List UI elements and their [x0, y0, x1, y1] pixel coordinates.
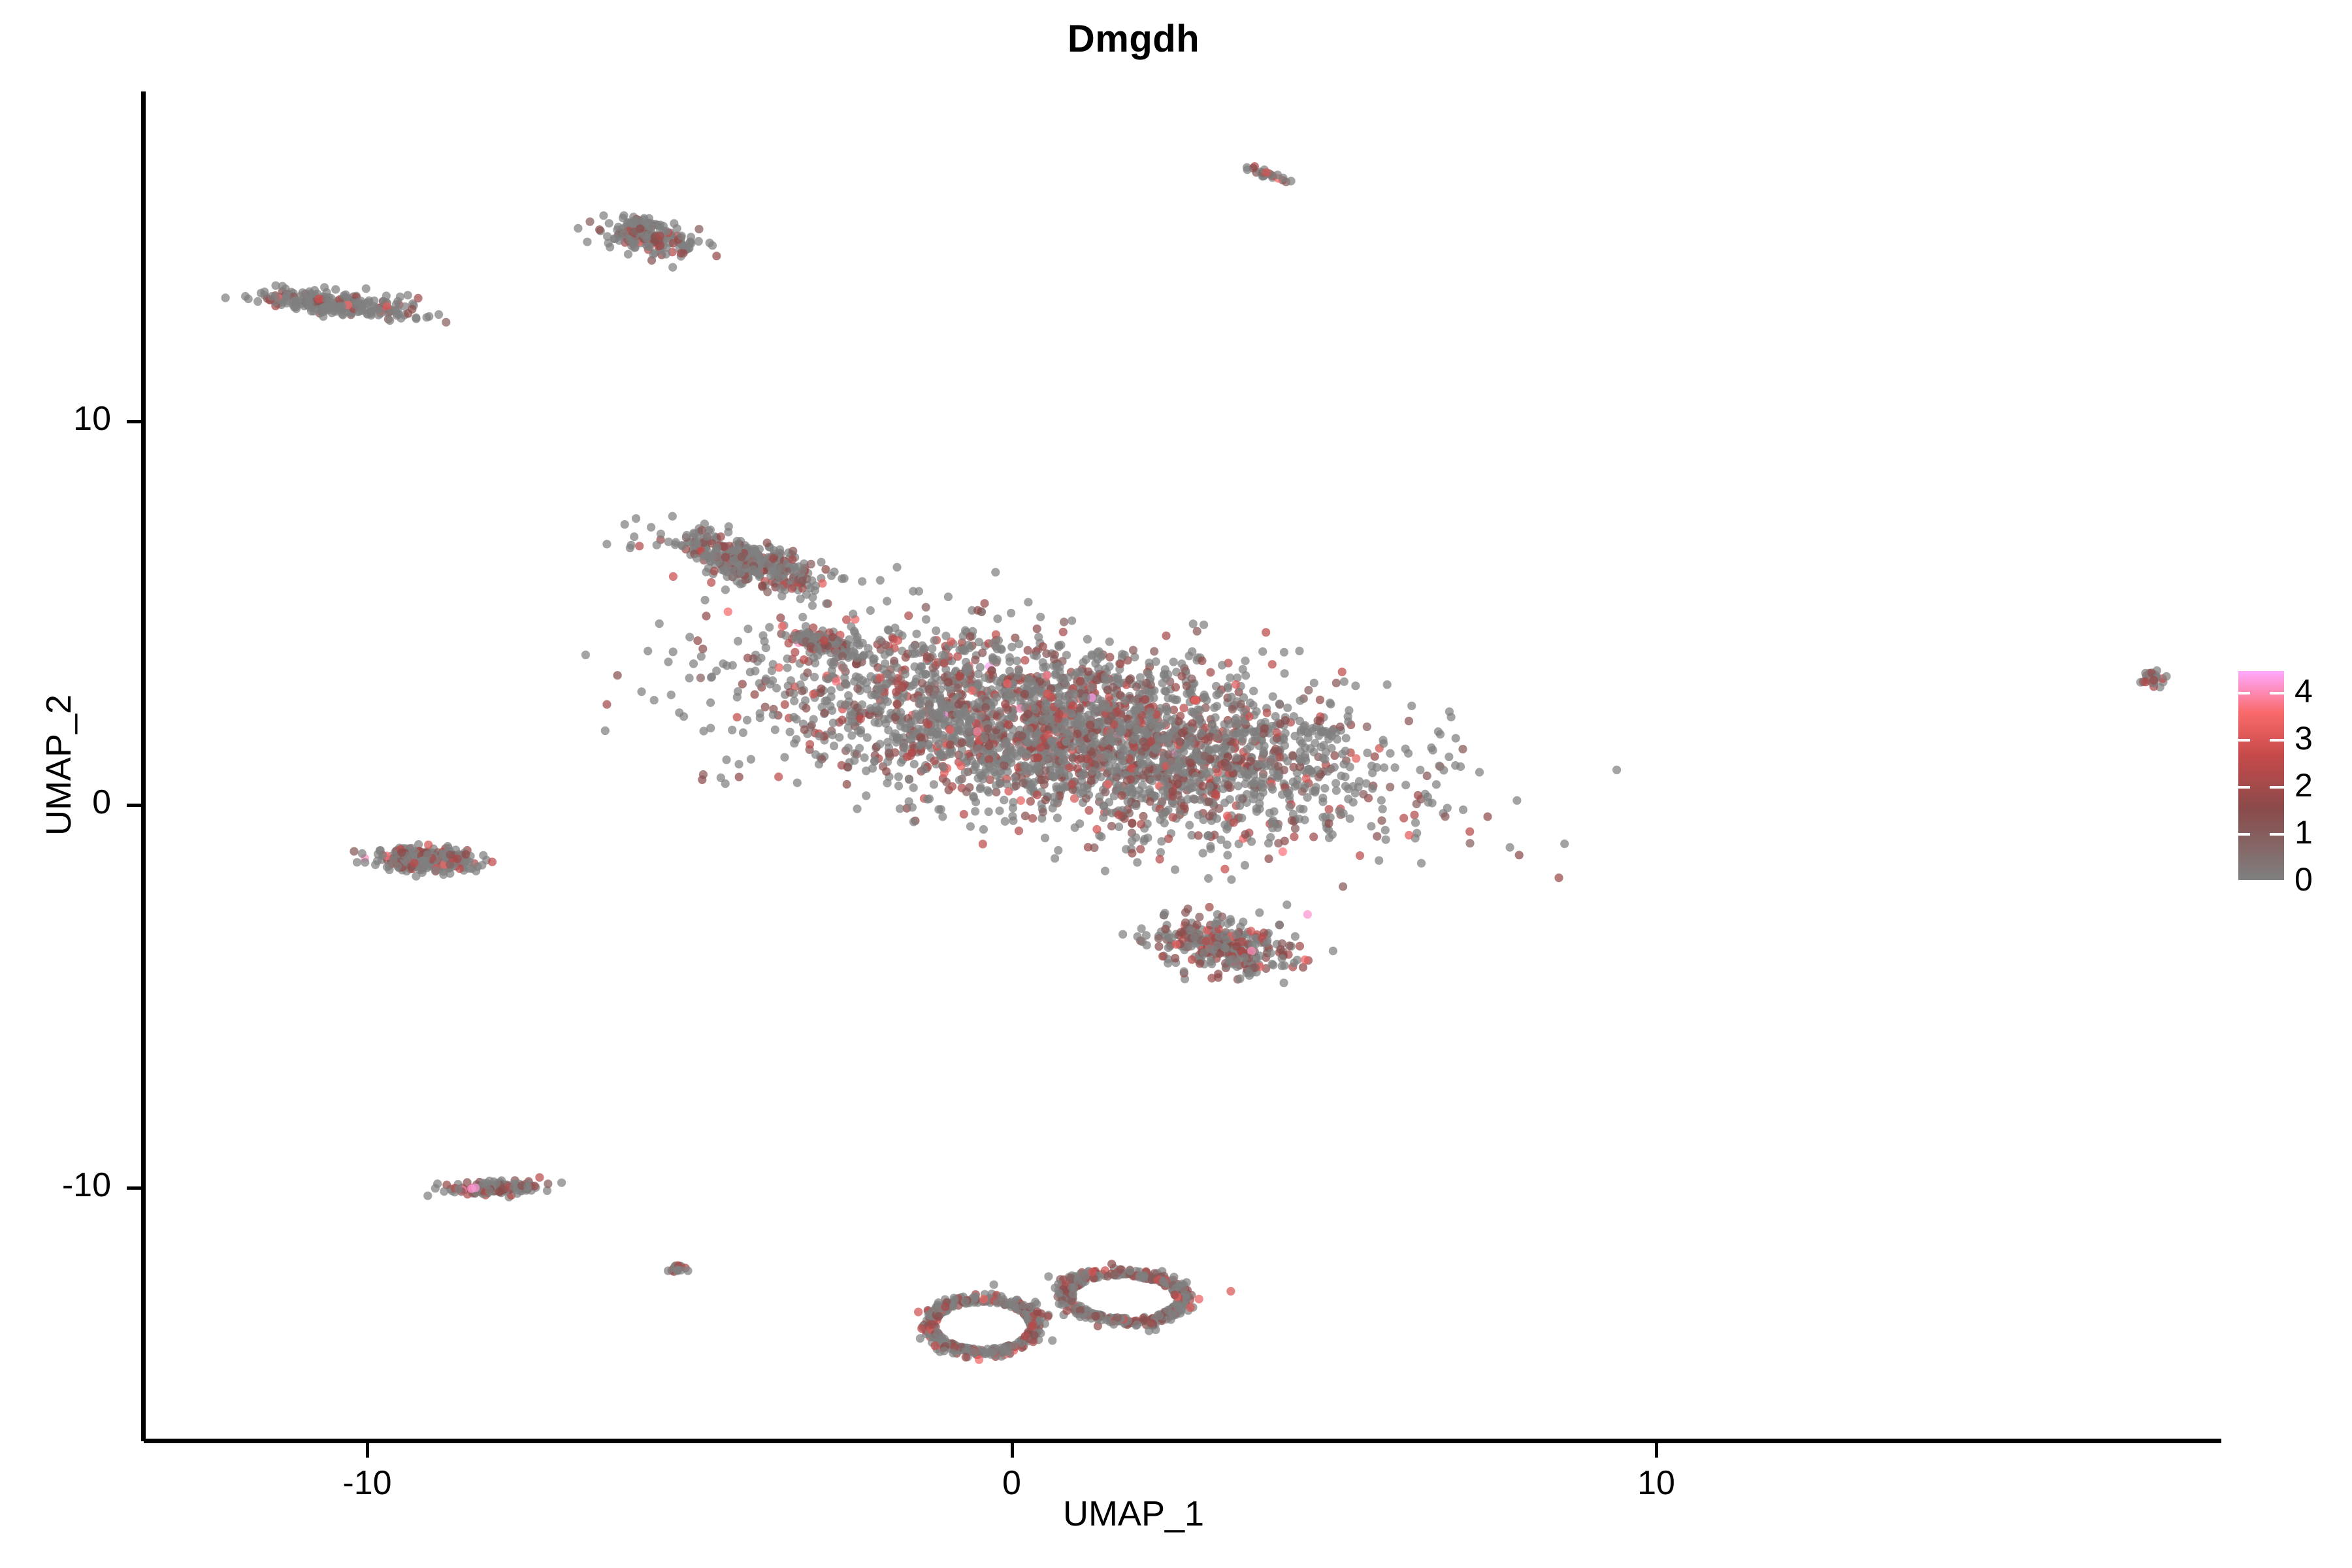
scatter-points-layer — [0, 0, 2352, 1568]
legend-label-0: 0 — [2295, 863, 2313, 896]
y-tick-mark-0 — [127, 804, 141, 807]
y-tick-mark-10 — [127, 420, 141, 423]
y-axis-title: UMAP_2 — [39, 536, 79, 994]
legend-tick-4 — [2270, 692, 2284, 694]
legend-label-3: 3 — [2295, 722, 2313, 755]
legend-tick-2 — [2270, 786, 2284, 789]
y-tick-label--10: -10 — [0, 1166, 111, 1205]
scatter-points-svg — [0, 0, 2352, 1568]
legend-tick-3 — [2270, 739, 2284, 742]
legend-label-4: 4 — [2295, 675, 2313, 708]
legend-tick-4 — [2236, 692, 2250, 694]
legend-tick-1 — [2270, 833, 2284, 836]
legend-tick-3 — [2236, 739, 2250, 742]
y-tick-label-10: 10 — [0, 399, 111, 438]
legend-label-2: 2 — [2295, 769, 2313, 802]
umap-scatter-plot: Dmgdh -10010-10010 UMAP_1 UMAP_2 01234 — [0, 0, 2352, 1568]
x-tick-mark-0 — [1011, 1443, 1014, 1458]
x-axis-title: UMAP_1 — [0, 1494, 2267, 1534]
legend-tick-2 — [2236, 786, 2250, 789]
x-tick-mark-10 — [1655, 1443, 1658, 1458]
color-legend: 01234 — [2234, 666, 2345, 892]
legend-label-1: 1 — [2295, 816, 2313, 849]
y-tick-mark--10 — [127, 1186, 141, 1190]
legend-tick-1 — [2236, 833, 2250, 836]
x-tick-mark--10 — [366, 1443, 369, 1458]
legend-colorbar — [2238, 671, 2284, 880]
